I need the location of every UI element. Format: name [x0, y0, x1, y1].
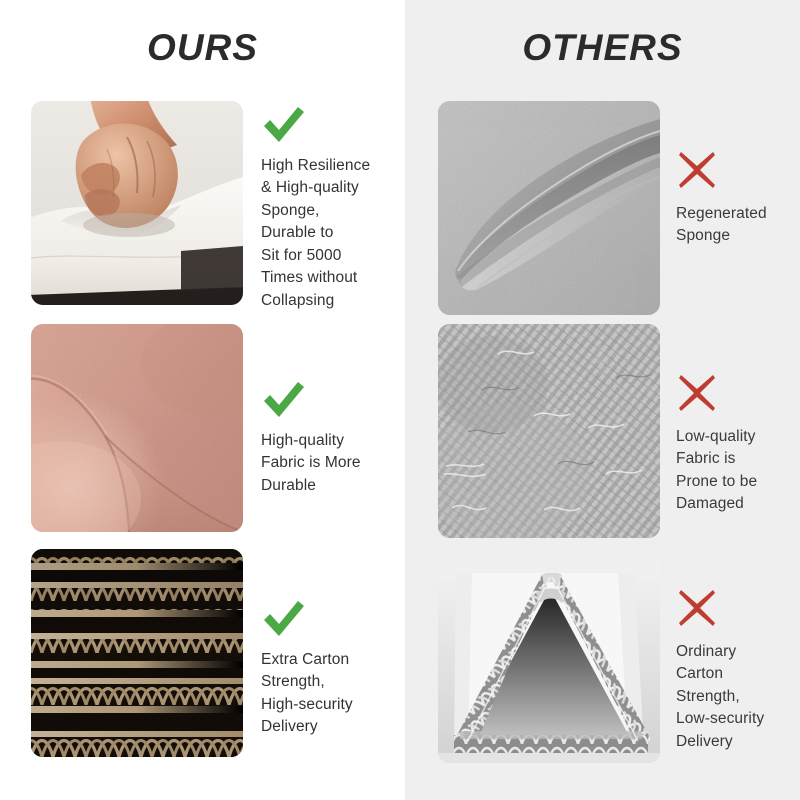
others-row-1-text: Regenerated Sponge	[676, 203, 788, 248]
ours-row-2-text-block: High-quality Fabric is More Durable	[243, 324, 391, 497]
green-check-icon	[261, 380, 391, 424]
others-row-1-text-block: Regenerated Sponge	[660, 101, 788, 248]
others-row-3-text-block: Ordinary Carton Strength, Low-security D…	[660, 549, 788, 753]
red-cross-icon	[676, 587, 788, 631]
others-row-2: Low-quality Fabric is Prone to be Damage…	[438, 324, 788, 538]
ours-row-1-text-block: High Resilience & High-quality Sponge, D…	[243, 101, 391, 312]
others-column-title: OTHERS	[405, 27, 800, 69]
others-row-3-text: Ordinary Carton Strength, Low-security D…	[676, 641, 788, 753]
others-row-1: Regenerated Sponge	[438, 101, 788, 315]
ours-row-3: Extra Carton Strength, High-security Del…	[31, 549, 391, 757]
ours-fabric-photo	[31, 324, 243, 532]
ours-row-3-text: Extra Carton Strength, High-security Del…	[261, 649, 391, 739]
others-sponge-photo	[438, 101, 660, 315]
ours-row-1-text: High Resilience & High-quality Sponge, D…	[261, 155, 391, 312]
others-carton-photo	[438, 549, 660, 763]
red-cross-icon	[676, 149, 788, 193]
ours-row-2-text: High-quality Fabric is More Durable	[261, 430, 391, 497]
ours-column-title: OURS	[0, 27, 405, 69]
green-check-icon	[261, 599, 391, 643]
ours-row-1: High Resilience & High-quality Sponge, D…	[31, 101, 391, 312]
red-cross-icon	[676, 372, 788, 416]
ours-foam-photo	[31, 101, 243, 305]
others-row-2-text-block: Low-quality Fabric is Prone to be Damage…	[660, 324, 788, 516]
comparison-infographic: OURS OTHERS	[0, 0, 800, 800]
ours-row-2: High-quality Fabric is More Durable	[31, 324, 391, 532]
ours-carton-photo	[31, 549, 243, 757]
ours-row-3-text-block: Extra Carton Strength, High-security Del…	[243, 549, 391, 739]
others-fabric-photo	[438, 324, 660, 538]
green-check-icon	[261, 105, 391, 149]
others-row-2-text: Low-quality Fabric is Prone to be Damage…	[676, 426, 788, 516]
others-row-3: Ordinary Carton Strength, Low-security D…	[438, 549, 788, 763]
